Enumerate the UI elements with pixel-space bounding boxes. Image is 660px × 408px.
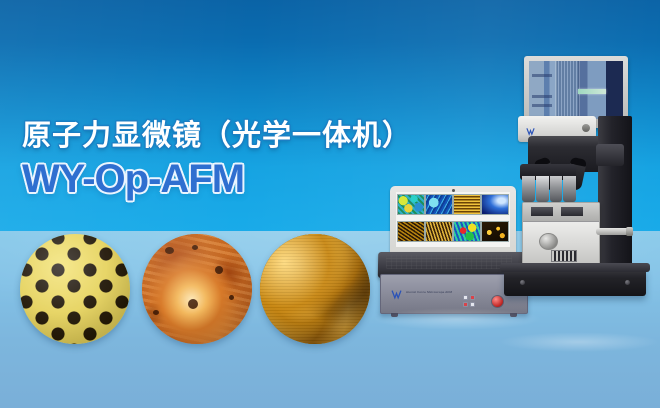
scan-panel — [454, 221, 480, 246]
stage-translation-rod[interactable] — [596, 228, 630, 235]
sample-image-grain-surface — [260, 234, 370, 344]
scan-thumbnail — [453, 221, 481, 242]
scan-panel — [426, 221, 452, 246]
scan-thumbnail — [397, 194, 425, 215]
scan-panel — [398, 194, 424, 219]
focus-knob[interactable] — [596, 144, 624, 166]
scan-thumbnail — [425, 221, 453, 242]
company-logo-icon — [391, 287, 402, 298]
controller-button[interactable] — [463, 302, 468, 307]
base-screw-icon — [520, 280, 525, 285]
circle-shading — [142, 234, 252, 344]
controller-label: Atomic Force Microscope AFM — [406, 290, 452, 294]
afm-scanner-stage — [522, 202, 600, 268]
controller-button[interactable] — [470, 302, 475, 307]
objective-lens — [536, 176, 549, 202]
stage-adjust-knob[interactable] — [539, 233, 558, 250]
objective-lens — [550, 176, 563, 202]
laptop-screen — [396, 192, 510, 247]
microscope-base — [504, 268, 646, 296]
objective-lens-group — [522, 176, 576, 202]
scan-thumbnail — [425, 194, 453, 215]
controller-button[interactable] — [463, 295, 468, 300]
page-title: 原子力显微镜（光学一体机） — [22, 118, 412, 154]
scan-thumbnail — [397, 221, 425, 242]
company-logo-icon — [526, 123, 535, 132]
controller-button-grid[interactable] — [463, 295, 475, 307]
scan-panel — [454, 194, 480, 219]
headline-block: 原子力显微镜（光学一体机） WY-Op-AFM — [22, 118, 412, 202]
circle-shading — [260, 234, 370, 344]
sample-image-topography — [142, 234, 252, 344]
scan-panel — [398, 221, 424, 246]
microscope-column — [598, 116, 632, 278]
base-screw-icon — [625, 280, 630, 285]
objective-lens — [522, 176, 535, 202]
scan-panel — [426, 194, 452, 219]
cantilever-probe-icon — [578, 89, 606, 94]
sample-image-dot-array — [20, 234, 130, 344]
adjustment-knob[interactable] — [582, 124, 590, 132]
monitor-screen — [529, 61, 623, 119]
afm-optical-microscope — [498, 56, 656, 328]
stage-connector-panel — [551, 250, 577, 262]
product-model-name: WY-Op-AFM — [22, 156, 412, 202]
controller-button[interactable] — [470, 295, 475, 300]
circle-shading — [20, 234, 130, 344]
scan-thumbnail — [453, 194, 481, 215]
afm-product-banner: 原子力显微镜（光学一体机） WY-Op-AFM — [0, 0, 660, 408]
stage-top-plate — [523, 203, 599, 222]
objective-lens — [563, 176, 576, 202]
laptop-keyboard — [386, 255, 512, 269]
